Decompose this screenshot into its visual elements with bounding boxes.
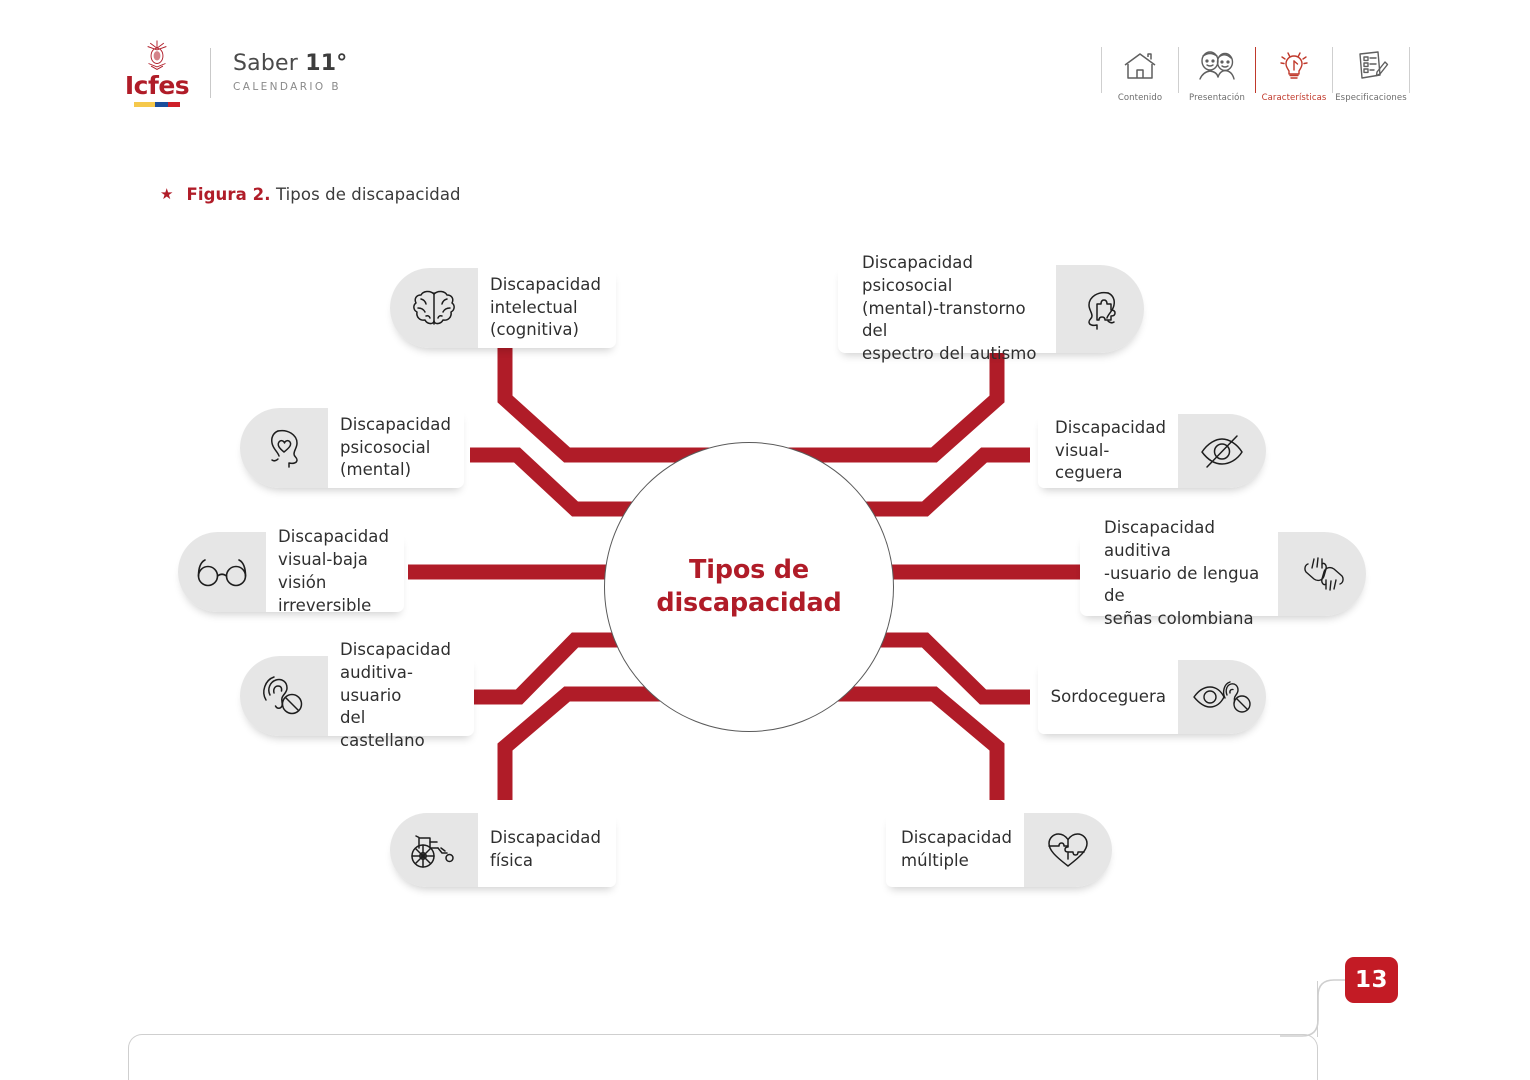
diagram-node-multiple[interactable]: Discapacidad múltiple xyxy=(886,813,1112,887)
diagram-node-sordoceguera[interactable]: Sordoceguera xyxy=(1038,660,1266,734)
sign-language-icon xyxy=(1278,532,1366,616)
diagram-node-label: Discapacidad visual-baja visión irrevers… xyxy=(266,526,413,617)
diagram-node-visual-ceguera[interactable]: Discapacidad visual-ceguera xyxy=(1038,414,1266,488)
diagram-node-psicosocial-autismo[interactable]: Discapacidad psicosocial (mental)-transt… xyxy=(838,265,1144,353)
diagram-node-auditiva-senas[interactable]: Discapacidad auditiva -usuario de lengua… xyxy=(1080,532,1366,616)
diagram-node-intelectual[interactable]: Discapacidad intelectual (cognitiva) xyxy=(390,268,616,348)
glasses-icon xyxy=(178,532,266,612)
diagram-node-label: Sordoceguera xyxy=(1027,686,1178,709)
head-heart-icon xyxy=(240,408,328,488)
page-number-badge: 13 xyxy=(1345,957,1398,1003)
diagram-hub: Tipos de discapacidad xyxy=(604,442,894,732)
diagram-tipos-de-discapacidad: Tipos de discapacidad Discapacidad intel… xyxy=(0,0,1530,1080)
diagram-hub-label: Tipos de discapacidad xyxy=(605,554,893,620)
diagram-node-baja-vision[interactable]: Discapacidad visual-baja visión irrevers… xyxy=(178,532,404,612)
diagram-node-label: Discapacidad auditiva -usuario de lengua… xyxy=(1080,517,1278,631)
eye-ear-crossed-icon xyxy=(1178,660,1266,734)
diagram-node-auditiva-castellano[interactable]: Discapacidad auditiva-usuario del castel… xyxy=(240,656,474,736)
diagram-node-label: Discapacidad visual-ceguera xyxy=(1031,417,1178,485)
heart-puzzle-icon xyxy=(1024,813,1112,887)
eye-crossed-icon xyxy=(1178,414,1266,488)
page-root: Icfes Saber 11° CALENDARIO B xyxy=(0,0,1530,1080)
ear-crossed-icon xyxy=(240,656,328,736)
footer-frame xyxy=(128,1034,1318,1080)
diagram-node-label: Discapacidad psicosocial (mental)-transt… xyxy=(838,252,1056,366)
diagram-node-label: Discapacidad física xyxy=(478,827,625,873)
diagram-node-psicosocial[interactable]: Discapacidad psicosocial (mental) xyxy=(240,408,464,488)
diagram-node-fisica[interactable]: Discapacidad física xyxy=(390,813,616,887)
diagram-node-label: Discapacidad múltiple xyxy=(877,827,1024,873)
wheelchair-icon xyxy=(390,813,478,887)
diagram-node-label: Discapacidad psicosocial (mental) xyxy=(328,414,475,482)
diagram-node-label: Discapacidad intelectual (cognitiva) xyxy=(478,274,625,342)
diagram-node-label: Discapacidad auditiva-usuario del castel… xyxy=(328,639,475,753)
brain-icon xyxy=(390,268,478,348)
head-puzzle-icon xyxy=(1056,265,1144,353)
